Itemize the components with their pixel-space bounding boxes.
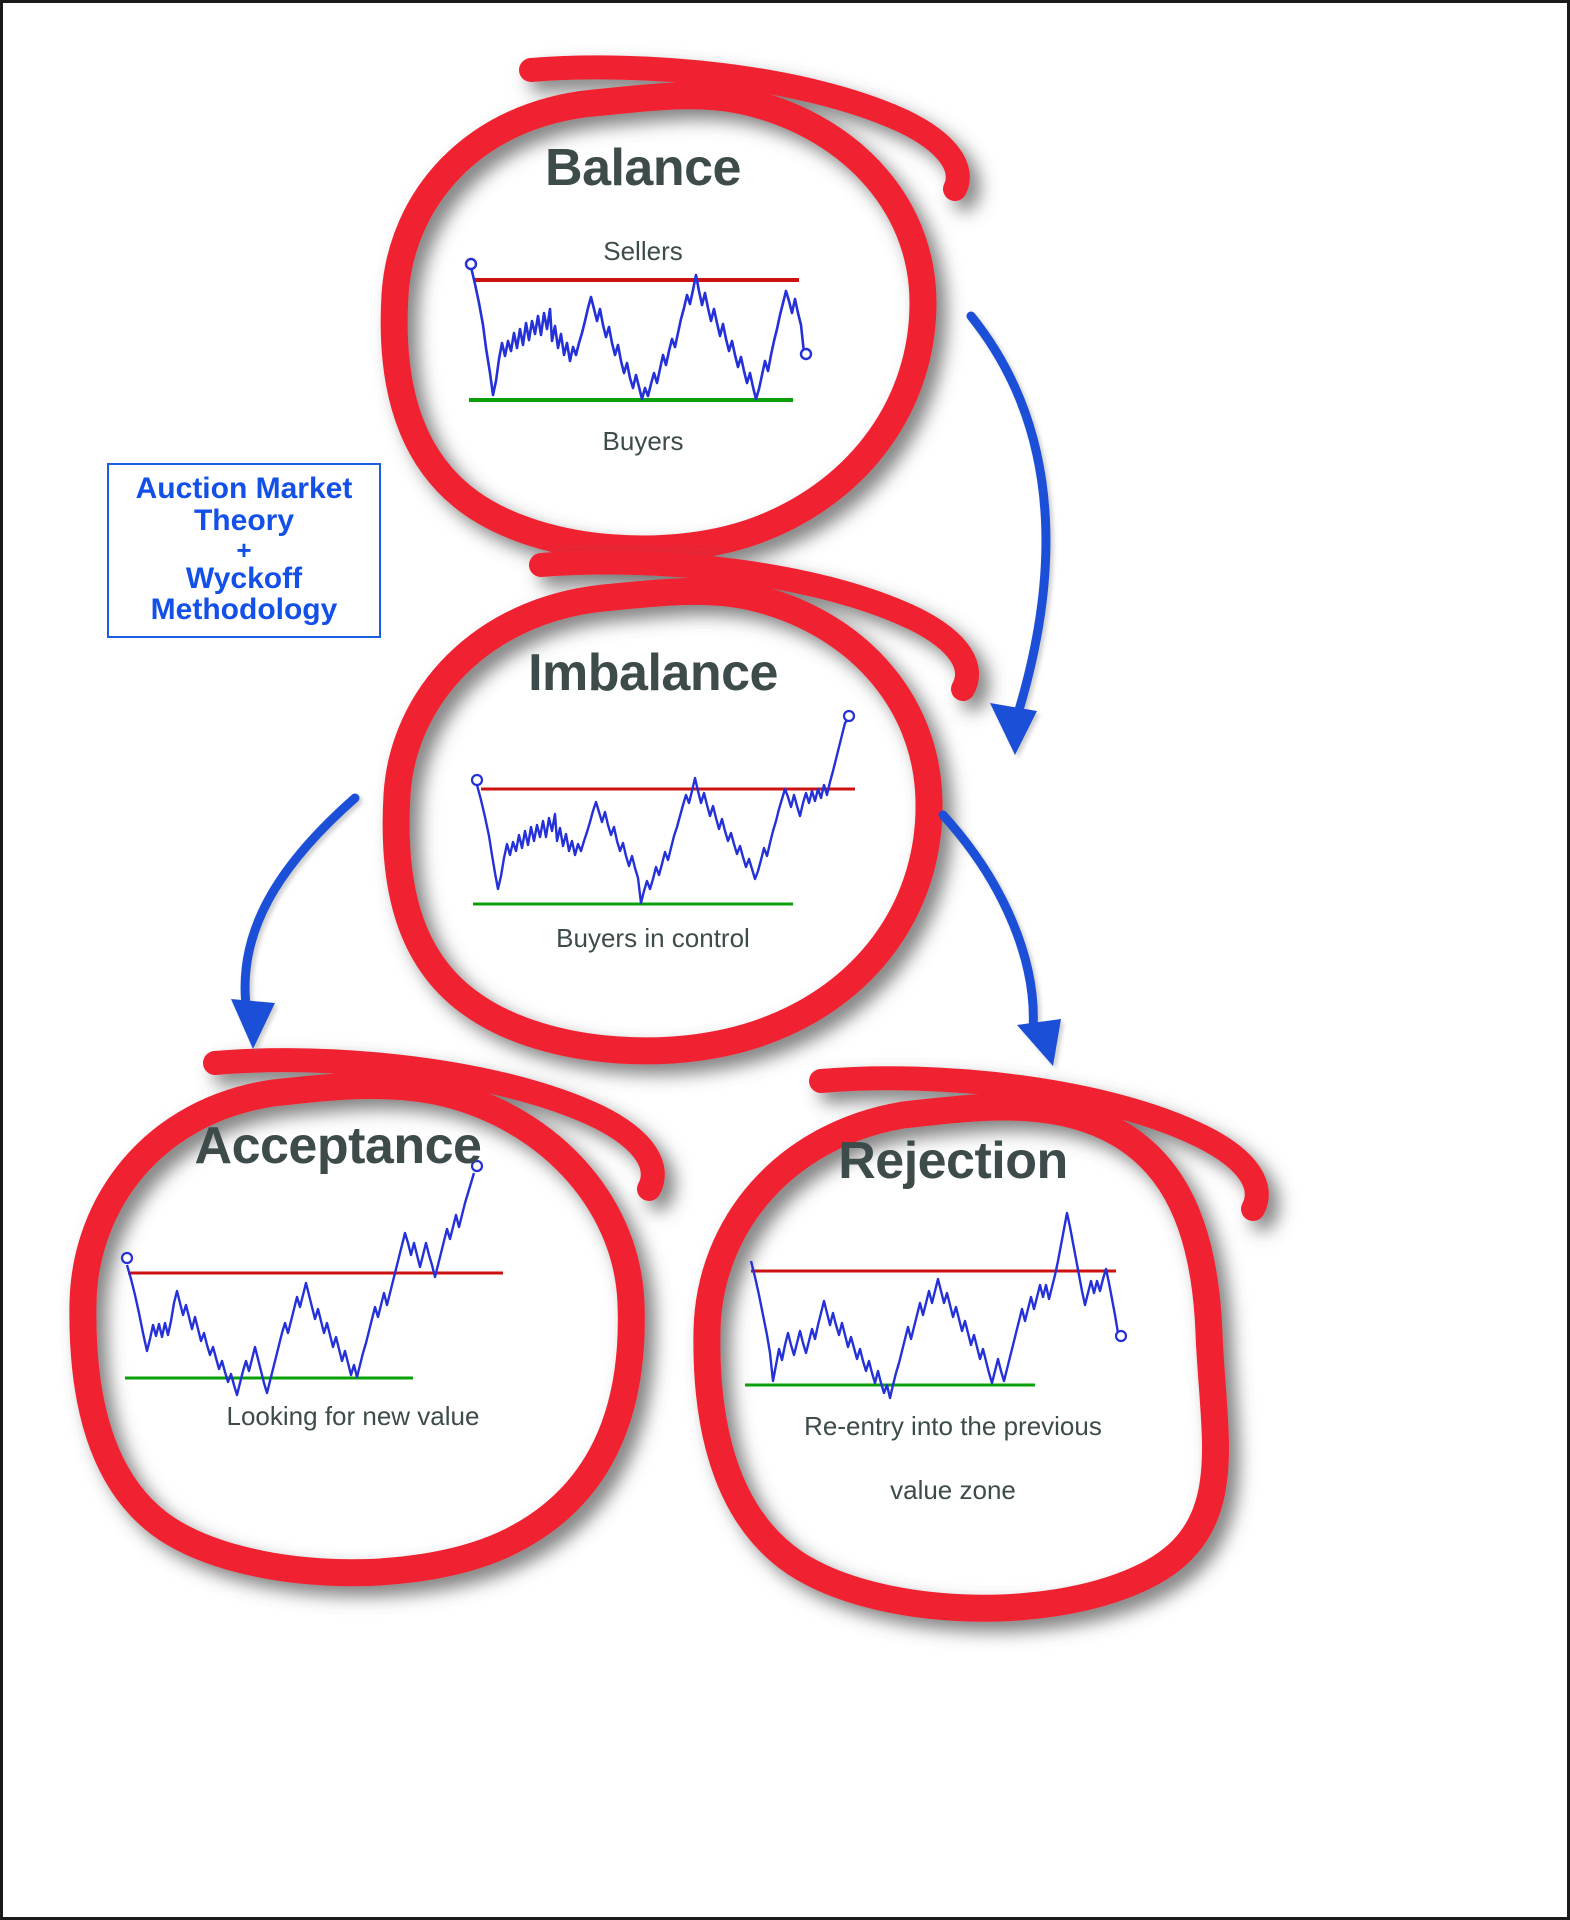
arrow-balance-to-imbalance <box>971 316 1046 755</box>
chart-rejection <box>745 1213 1126 1398</box>
end-marker-imbalance <box>844 711 854 721</box>
diagram-graphics <box>3 3 1570 1920</box>
start-marker-imbalance <box>472 775 482 785</box>
start-marker-acceptance <box>122 1253 132 1263</box>
arrow-imbalance-to-acceptance <box>231 798 355 1049</box>
node-label-buyers: Buyers <box>523 426 763 457</box>
chart-acceptance <box>122 1161 503 1395</box>
node-caption-imbalance: Buyers in control <box>503 923 803 954</box>
theory-line-3: Wyckoff <box>113 563 375 595</box>
price-line-rejection <box>751 1213 1118 1398</box>
node-caption-rejection-line1: Re-entry into the previous <box>753 1411 1153 1442</box>
node-label-sellers: Sellers <box>523 236 763 267</box>
node-title-acceptance: Acceptance <box>163 1116 513 1176</box>
end-marker-rejection <box>1116 1331 1126 1341</box>
arrow-imbalance-to-rejection <box>943 815 1061 1066</box>
end-marker-balance <box>801 349 811 359</box>
node-caption-rejection-line2: value zone <box>753 1475 1153 1506</box>
node-caption-acceptance: Looking for new value <box>143 1401 563 1432</box>
chart-balance <box>466 259 811 400</box>
diagram-canvas: Balance Sellers Buyers Imbalance Buyers … <box>0 0 1570 1920</box>
theory-line-1: Auction Market <box>113 473 375 505</box>
price-line-acceptance <box>127 1173 474 1395</box>
theory-callout-box: Auction Market Theory + Wyckoff Methodol… <box>107 463 381 638</box>
theory-line-2: Theory <box>113 505 375 537</box>
chart-imbalance <box>472 711 855 904</box>
theory-plus-sign: + <box>113 537 375 563</box>
node-title-rejection: Rejection <box>803 1131 1103 1191</box>
price-line-imbalance <box>477 719 848 903</box>
start-marker-balance <box>466 259 476 269</box>
node-title-balance: Balance <box>523 138 763 198</box>
price-line-balance <box>471 267 804 399</box>
node-title-imbalance: Imbalance <box>503 643 803 703</box>
theory-line-4: Methodology <box>113 594 375 626</box>
